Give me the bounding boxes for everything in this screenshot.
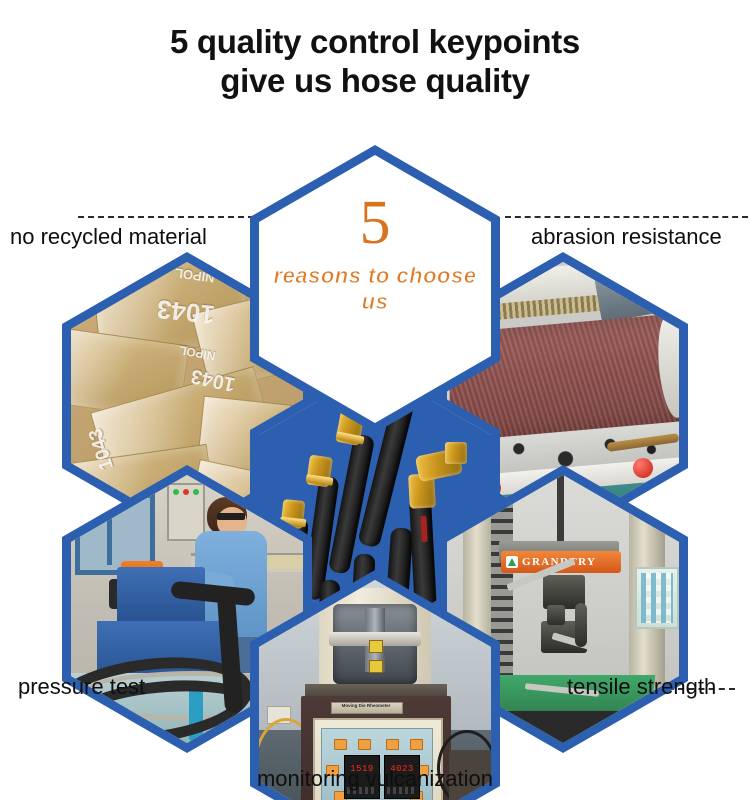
wall-poster: [635, 567, 679, 629]
label-abrasion-resistance: abrasion resistance: [531, 224, 722, 250]
label-monitoring-vulcanization: monitoring vulcanization: [0, 766, 750, 792]
title-line-1: 5 quality control keypoints: [170, 23, 580, 60]
reasons-tagline: reasons to choose us: [259, 263, 491, 315]
page-title: 5 quality control keypoints give us hose…: [0, 22, 750, 100]
infographic-canvas: 5 quality control keypoints give us hose…: [0, 0, 750, 800]
hexagon-inner-five-reasons: 5 reasons to choose us: [259, 155, 491, 423]
rheometer-nameplate: Moving Die Rheometer: [333, 703, 399, 708]
dashed-line-top-right: [505, 216, 748, 218]
label-pressure-test: pressure test: [18, 674, 145, 700]
title-line-2: give us hose quality: [0, 61, 750, 100]
reasons-number: 5: [259, 191, 491, 255]
red-knob-right: [633, 458, 653, 478]
grandtry-logo-icon: [506, 556, 518, 568]
label-tensile-strength: tensile strength: [567, 674, 716, 700]
safety-glasses-icon: [217, 513, 245, 520]
label-no-recycled-material: no recycled material: [10, 224, 207, 250]
bale-marking-1043-1: 1043: [156, 293, 217, 330]
